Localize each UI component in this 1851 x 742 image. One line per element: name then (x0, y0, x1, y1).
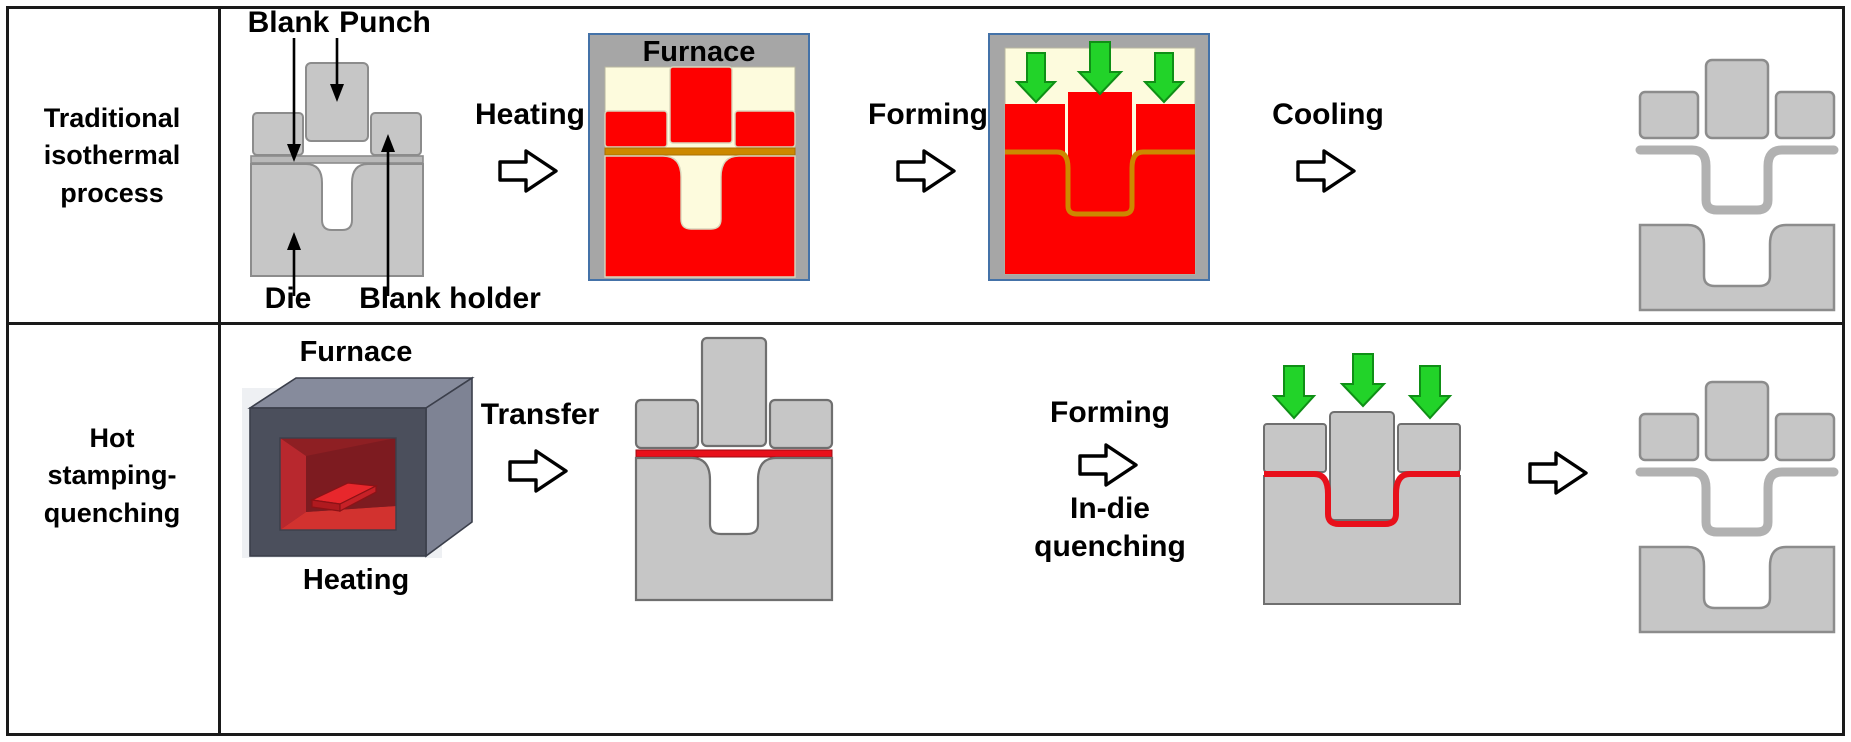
row-label-line: Traditional (12, 100, 212, 137)
transition-label-quenching: quenching (985, 530, 1235, 564)
blank-holder-left-hot (605, 111, 667, 147)
blank-holder-left-hot-closed (1005, 104, 1065, 152)
formed-part (1640, 150, 1834, 210)
punch-block-closed-row2 (1330, 412, 1394, 520)
blank-holder-right (371, 113, 421, 155)
callout-label-die: Die (238, 282, 338, 316)
blank-holder-right-final (1776, 414, 1834, 460)
punch-block-cooled (1706, 60, 1768, 138)
transition-label-transfer: Transfer (440, 398, 640, 432)
row-label-line: process (12, 175, 212, 212)
arrow-right-icon-cooling (1296, 148, 1358, 194)
furnace-interior-heating (605, 67, 795, 277)
row-label-line: Hot (12, 420, 212, 457)
arrow-right-icon-unload (1528, 450, 1590, 496)
blank-holder-left-closed-row2 (1264, 424, 1326, 472)
force-arrow-green-right-row2 (1410, 366, 1450, 418)
blank-holder-left-row2 (636, 400, 698, 448)
blank-holder-right-hot (735, 111, 795, 147)
arrow-right-icon-transfer (508, 448, 570, 494)
row-label-traditional: Traditional isothermal process (12, 100, 212, 212)
force-arrow-green-center-row2 (1342, 354, 1384, 406)
row-label-line: stamping- (12, 457, 212, 494)
stage-cooled-part (1638, 60, 1838, 310)
stage-finished-part (1638, 382, 1838, 632)
punch-block-hot (670, 67, 732, 143)
transition-label-forming-row2: Forming (1020, 396, 1200, 430)
blank-holder-right-hot-closed (1136, 104, 1195, 152)
callout-label-blank: Blank (236, 6, 341, 40)
punch-block-final (1706, 382, 1768, 460)
die-block-row2 (636, 458, 832, 600)
row-label-hot-stamping: Hot stamping- quenching (12, 420, 212, 532)
punch-block-hot-closed (1068, 92, 1132, 152)
blank-sheet-hot (605, 148, 795, 155)
transition-label-in-die: In-die (1020, 492, 1200, 526)
arrow-right-icon-forming-row1 (896, 148, 958, 194)
blank-holder-right-cooled (1776, 92, 1834, 138)
furnace-caption-heating-bottom: Heating (236, 564, 476, 597)
furnace-caption-heating: Furnace (588, 36, 810, 69)
die-block-final (1640, 547, 1834, 632)
blank-sheet (251, 156, 423, 163)
column-divider (218, 6, 221, 736)
blank-holder-left-cooled (1640, 92, 1698, 138)
row-divider (6, 322, 1845, 325)
blank-holder-left-final (1640, 414, 1698, 460)
die-block-cooled (1640, 225, 1834, 310)
blank-holder-right-row2 (770, 400, 832, 448)
transition-label-cooling: Cooling (1238, 98, 1418, 132)
stage-forming-quenching (1248, 356, 1488, 606)
force-arrow-green-left-row2 (1274, 366, 1314, 418)
arrow-right-icon-heating (498, 148, 560, 194)
die-block (251, 164, 423, 276)
row-label-line: quenching (12, 495, 212, 532)
callout-label-blank-holder: Blank holder (345, 282, 555, 316)
furnace-caption-3d: Furnace (236, 336, 476, 369)
blank-holder-right-closed-row2 (1398, 424, 1460, 472)
formed-part-final (1640, 472, 1834, 532)
stage-blank-in-die (630, 338, 860, 606)
process-comparison-diagram: Traditional isothermal process (0, 0, 1851, 742)
furnace-cavity-glow (280, 438, 396, 530)
row-label-line: isothermal (12, 137, 212, 174)
arrow-right-icon-forming-row2 (1078, 442, 1140, 488)
blank-sheet-hot-row2 (636, 450, 832, 457)
punch-block-row2 (702, 338, 766, 446)
furnace-interior-forming (1005, 48, 1195, 274)
callout-label-punch: Punch (330, 6, 440, 40)
